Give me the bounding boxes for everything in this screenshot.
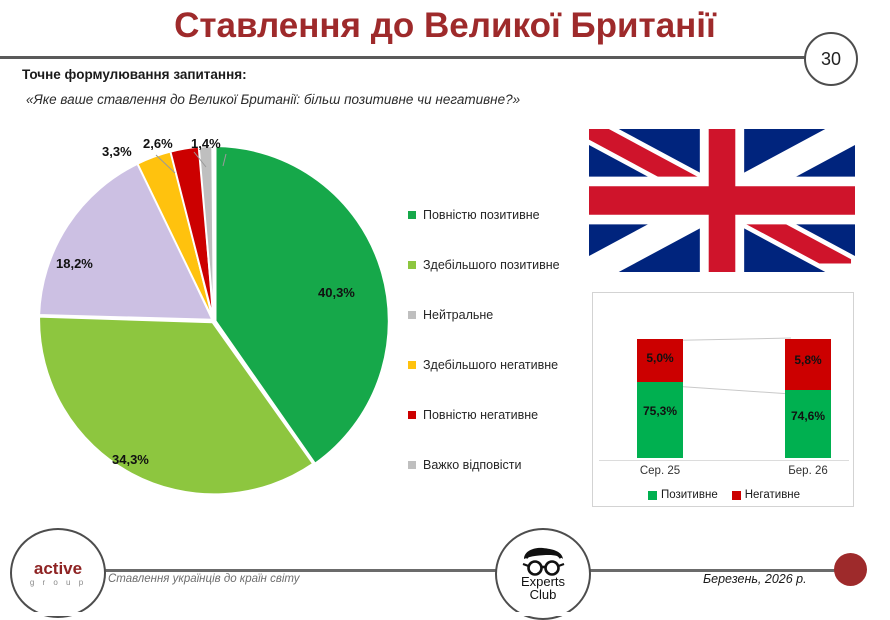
legend-item-neutral[interactable]: Нейтральне (408, 290, 588, 340)
bar-chart-axis (599, 460, 849, 461)
bar-value-negative: 5,8% (785, 353, 831, 367)
pie-value-fully-positive: 40,3% (318, 285, 355, 300)
legend-swatch-icon (408, 461, 416, 469)
legend-item-mostly-negative[interactable]: Здебільшого негативне (408, 340, 588, 390)
bar-column-ber26[interactable]: 5,8% 74,6% (785, 339, 831, 458)
question-text: «Яке ваше ставлення до Великої Британії:… (26, 92, 520, 107)
legend-item-fully-negative[interactable]: Повністю негативне (408, 390, 588, 440)
bar-legend-label: Позитивне (661, 489, 718, 501)
legend-item-fully-positive[interactable]: Повністю позитивне (408, 190, 588, 240)
trend-bar-chart: 5,0% 75,3% Сер. 25 5,8% 74,6% Бер. 26 По… (592, 292, 854, 507)
pie-chart-svg (18, 128, 398, 518)
pie-value-fully-negative: 2,6% (143, 136, 173, 151)
legend-item-hard-to-answer[interactable]: Важко відповісти (408, 440, 588, 490)
legend-swatch-icon (408, 311, 416, 319)
pie-value-hard-to-answer: 1,4% (191, 136, 221, 151)
bar-value-positive: 74,6% (785, 409, 831, 423)
legend-swatch-icon (408, 211, 416, 219)
legend-label: Важко відповісти (423, 458, 522, 472)
bar-legend-item-positive[interactable]: Позитивне (648, 489, 718, 501)
bar-segment-negative: 5,8% (785, 339, 831, 390)
bar-category-ber26: Бер. 26 (768, 465, 848, 477)
page-title: Ставлення до Великої Британії (0, 6, 890, 46)
pie-value-mostly-positive: 34,3% (112, 452, 149, 467)
slide-root: Ставлення до Великої Британії 30 Точне ф… (0, 0, 890, 616)
legend-label: Повністю негативне (423, 408, 538, 422)
legend-swatch-icon (408, 411, 416, 419)
bar-category-ser25: Сер. 25 (620, 465, 700, 477)
footer-end-dot-icon (834, 553, 867, 586)
pie-value-mostly-negative: 3,3% (102, 144, 132, 159)
page-number-badge: 30 (804, 32, 858, 86)
bar-value-positive: 75,3% (637, 404, 683, 418)
active-logo-word: active (34, 560, 82, 577)
page-number-text: 30 (821, 49, 841, 70)
footer-subtitle: Ставлення українців до країн світу (108, 573, 299, 585)
glasses-face-icon (516, 547, 570, 577)
bar-legend-item-negative[interactable]: Негативне (732, 489, 800, 501)
bottom-strip (0, 612, 890, 616)
active-group-logo: active g r o u p (10, 528, 106, 618)
footer-date: Березень, 2026 р. (703, 572, 807, 586)
bar-column-ser25[interactable]: 5,0% 75,3% (637, 339, 683, 458)
pie-value-neutral: 18,2% (56, 256, 93, 271)
question-label: Точне формулювання запитання: (22, 67, 247, 82)
active-logo-subword: g r o u p (30, 579, 86, 587)
legend-label: Повністю позитивне (423, 208, 540, 222)
bar-legend-label: Негативне (745, 489, 800, 501)
legend-swatch-icon (408, 261, 416, 269)
legend-swatch-icon (732, 491, 741, 500)
bar-chart-legend: Позитивне Негативне (593, 489, 855, 501)
legend-swatch-icon (408, 361, 416, 369)
pie-chart: 40,3% 34,3% 18,2% 3,3% 2,6% 1,4% (18, 128, 398, 518)
legend-label: Здебільшого негативне (423, 358, 558, 372)
legend-swatch-icon (648, 491, 657, 500)
united-kingdom-flag-icon (589, 129, 855, 272)
experts-logo-line2: Club (530, 588, 557, 601)
bar-value-negative: 5,0% (637, 351, 683, 365)
legend-label: Нейтральне (423, 308, 493, 322)
bar-segment-negative: 5,0% (637, 339, 683, 382)
bar-segment-positive: 74,6% (785, 390, 831, 458)
legend-item-mostly-positive[interactable]: Здебільшого позитивне (408, 240, 588, 290)
bar-segment-positive: 75,3% (637, 382, 683, 458)
experts-club-logo: Experts Club (495, 528, 591, 620)
legend-label: Здебільшого позитивне (423, 258, 560, 272)
header-divider (0, 56, 830, 59)
pie-legend: Повністю позитивне Здебільшого позитивне… (408, 190, 588, 490)
